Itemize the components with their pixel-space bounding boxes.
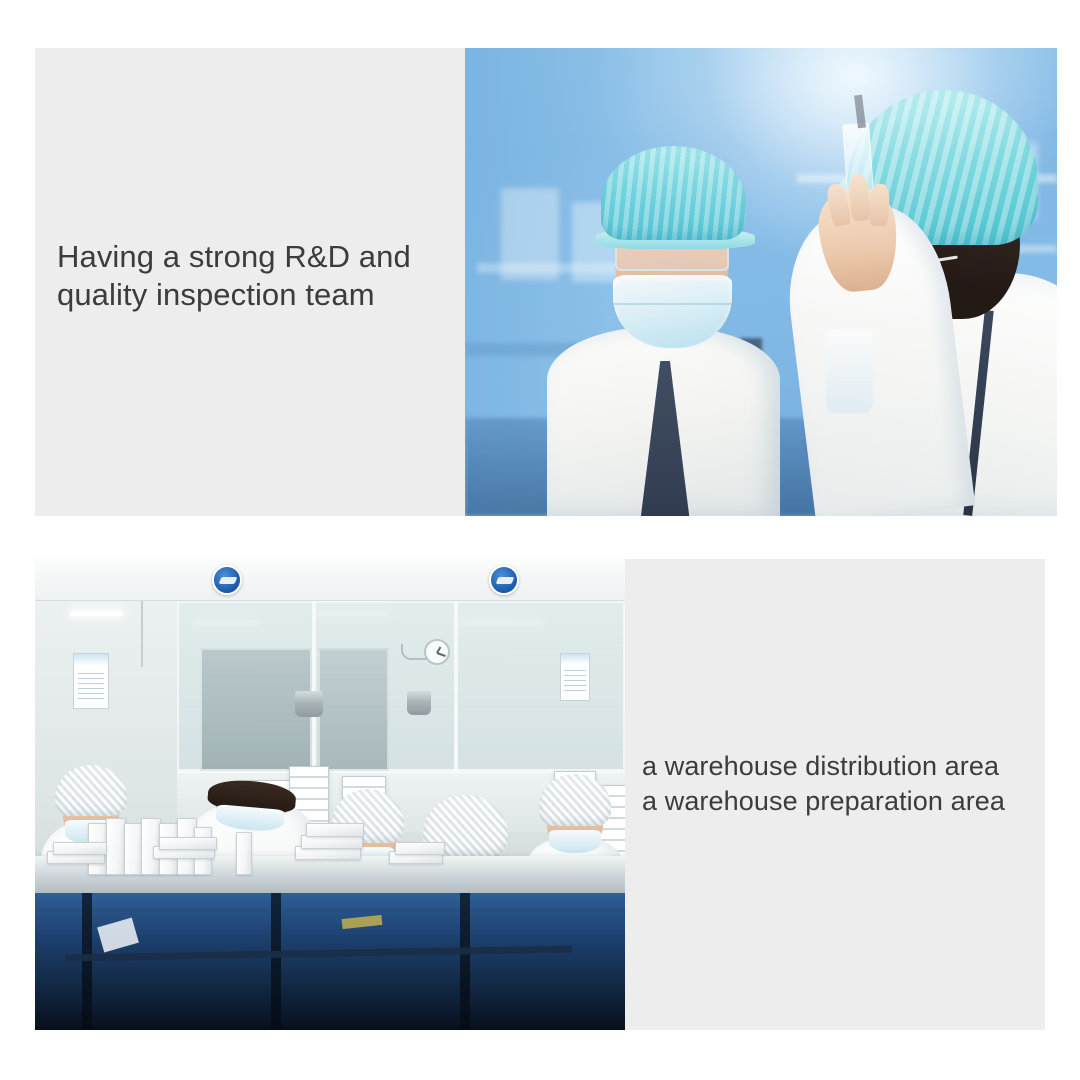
hanging-cord [141,601,143,667]
partition-mullion [454,601,458,771]
blue-circular-sign-icon [489,565,519,595]
product-carton [236,832,252,874]
table-leg [82,893,92,1030]
hair-net-cap [539,774,611,825]
table-under-frame [35,893,625,1030]
bottom-caption-panel: a warehouse distribution area a warehous… [625,559,1045,1030]
product-carton [395,842,445,855]
bottom-section: a warehouse distribution area a warehous… [35,559,1045,1030]
blue-circular-sign-icon [212,565,242,595]
top-caption-panel: Having a strong R&D and quality inspecti… [35,48,465,516]
interior-door [318,648,389,770]
product-carton [53,842,107,855]
partition-mullion [312,601,316,771]
stainless-container [295,691,323,717]
table-rail [35,908,625,914]
face-mask [549,830,601,854]
product-carton [106,818,126,875]
warehouse-packing-photo [35,559,625,1030]
ceiling-light [70,611,123,616]
hair-cap [601,146,746,241]
warehouse-ceiling [35,559,625,601]
hair-net-cap [55,765,127,816]
product-carton [159,837,217,850]
table-leg [460,893,470,1030]
bottom-caption-text: a warehouse distribution area a warehous… [642,749,1062,819]
top-section: Having a strong R&D and quality inspecti… [35,48,1057,516]
top-caption-text: Having a strong R&D and quality inspecti… [57,238,457,315]
page-root: Having a strong R&D and quality inspecti… [0,0,1080,1080]
lab-glassware [826,329,873,413]
stainless-container [407,691,431,715]
lab-inspection-photo [465,48,1057,516]
hand-finger [869,183,890,226]
product-carton [306,823,364,837]
notice-board [73,653,109,709]
notice-board [560,653,590,701]
table-leg [271,893,281,1030]
